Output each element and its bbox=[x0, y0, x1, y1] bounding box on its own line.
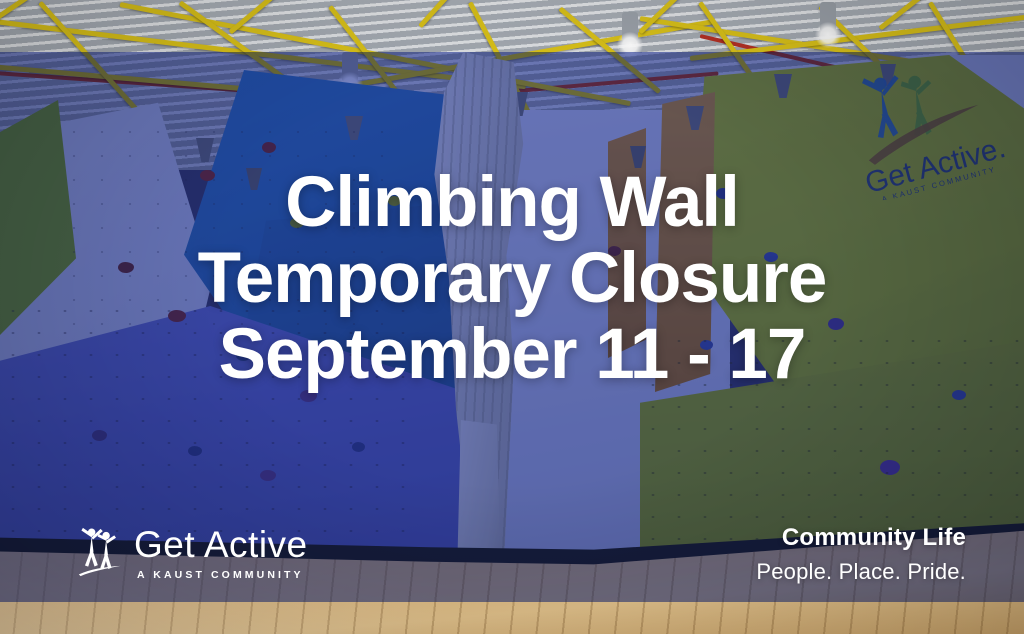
brand-name: Get Active bbox=[134, 526, 308, 564]
get-active-logo-lockup: Get Active A KAUST COMMUNITY bbox=[78, 524, 308, 583]
headline-line-3: September 11 - 17 bbox=[0, 317, 1024, 393]
community-life-tagline: People. Place. Pride. bbox=[756, 559, 966, 585]
community-life-block: Community Life People. Place. Pride. bbox=[756, 524, 966, 585]
brand-tagline: A KAUST COMMUNITY bbox=[137, 569, 308, 581]
headline-line-1: Climbing Wall bbox=[0, 165, 1024, 241]
community-life-title: Community Life bbox=[756, 524, 966, 552]
page-title: Climbing Wall Temporary Closure Septembe… bbox=[0, 165, 1024, 393]
get-active-wordmark: Get Active A KAUST COMMUNITY bbox=[134, 526, 308, 581]
poster-canvas: Get Active. A KAUST COMMUNITY bbox=[0, 0, 1024, 634]
two-figures-swoosh-icon bbox=[78, 524, 124, 583]
headline-line-2: Temporary Closure bbox=[0, 241, 1024, 317]
